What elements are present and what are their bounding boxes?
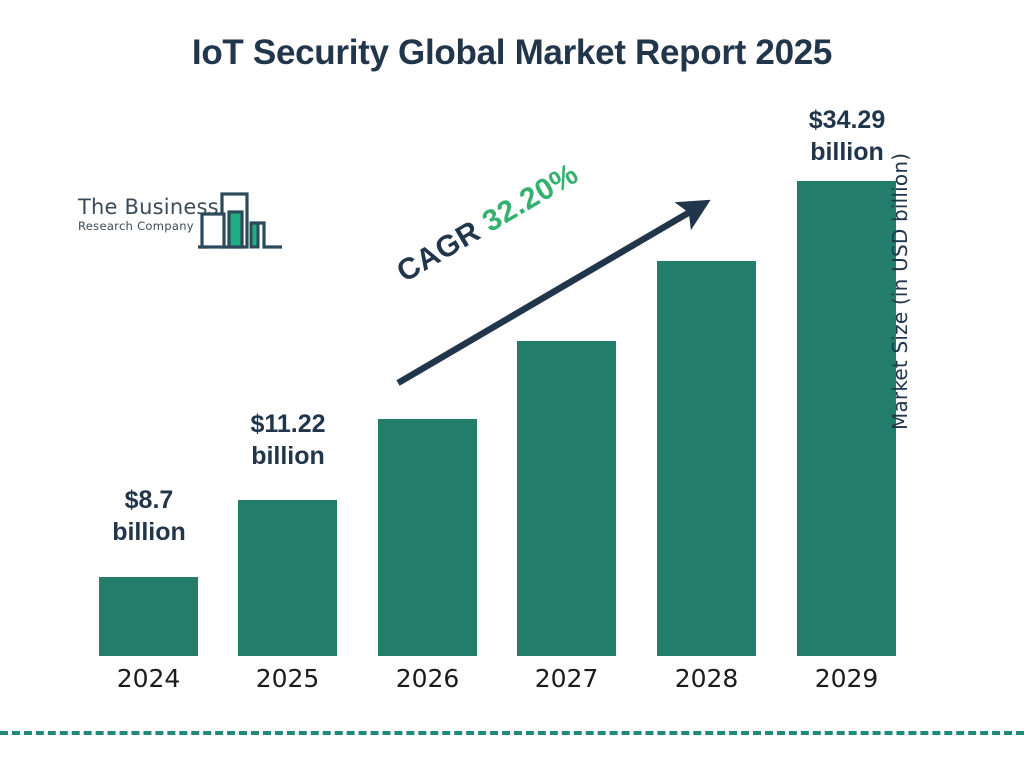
cagr-value: 32.20% bbox=[477, 157, 584, 238]
x-tick-2026: 2026 bbox=[378, 664, 477, 693]
bar-2026 bbox=[378, 419, 477, 656]
cagr-label: CAGR bbox=[391, 215, 486, 289]
bar-2027 bbox=[517, 341, 616, 656]
y-axis-title: Market Size (in USD billion) bbox=[888, 100, 912, 430]
cagr-annotation: CAGR 32.20% bbox=[391, 157, 584, 290]
bar-2025 bbox=[238, 500, 337, 656]
logo-line-2: Research Company bbox=[78, 219, 218, 233]
x-tick-2024: 2024 bbox=[99, 664, 198, 693]
company-logo: The Business Research Company bbox=[78, 190, 283, 252]
bar-2029 bbox=[797, 181, 896, 656]
value-label-2024: $8.7 billion bbox=[88, 484, 210, 548]
value-label-2024-unit: billion bbox=[88, 516, 210, 548]
chart-title: IoT Security Global Market Report 2025 bbox=[0, 33, 1024, 73]
value-label-2025-amount: $11.22 bbox=[226, 408, 350, 440]
x-tick-2029: 2029 bbox=[797, 664, 896, 693]
value-label-2025: $11.22 billion bbox=[226, 408, 350, 472]
bar-2024 bbox=[99, 577, 198, 656]
logo-line-1: The Business bbox=[78, 196, 218, 219]
bar-chart-logo-mark-icon bbox=[198, 190, 284, 257]
value-label-2025-unit: billion bbox=[226, 440, 350, 472]
chart-canvas: IoT Security Global Market Report 2025 T… bbox=[0, 0, 1024, 768]
bottom-divider bbox=[0, 731, 1024, 735]
x-tick-2025: 2025 bbox=[238, 664, 337, 693]
x-tick-2027: 2027 bbox=[517, 664, 616, 693]
bar-2028 bbox=[657, 261, 756, 656]
value-label-2024-amount: $8.7 bbox=[88, 484, 210, 516]
logo-wordmark: The Business Research Company bbox=[78, 196, 218, 233]
x-tick-2028: 2028 bbox=[657, 664, 756, 693]
